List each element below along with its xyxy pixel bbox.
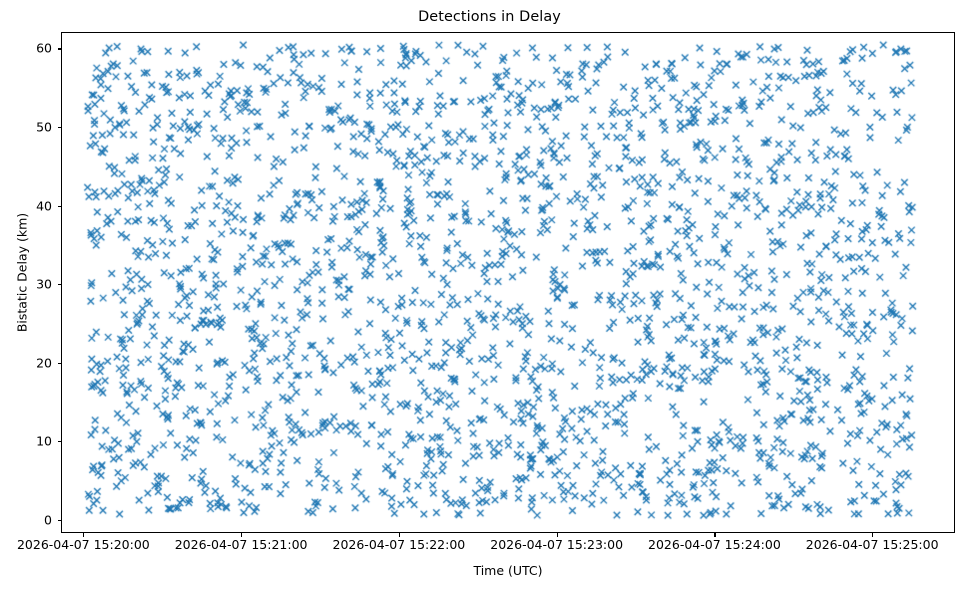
x-tick-label: 2026-04-07 15:22:00 [332,537,465,552]
x-tick-label: 2026-04-07 15:23:00 [490,537,623,552]
y-tick-label: 20 [36,355,52,370]
x-tick-mark [399,533,400,537]
x-tick-mark [714,533,715,537]
x-tick-label: 2026-04-07 15:21:00 [175,537,308,552]
y-tick-mark [58,441,62,442]
y-tick-mark [58,48,62,49]
y-tick-label: 30 [36,277,52,292]
x-tick-mark [557,533,558,537]
x-tick-label: 2026-04-07 15:24:00 [648,537,781,552]
x-tick-mark [872,533,873,537]
y-tick-mark [58,520,62,521]
scatter-plot-canvas [62,33,954,532]
y-tick-label: 0 [44,512,52,527]
y-tick-label: 60 [36,41,52,56]
y-tick-mark [58,206,62,207]
y-tick-mark [58,284,62,285]
matplotlib-figure: Detections in Delay 2026-04-07 15:20:002… [0,0,979,590]
page-title: Detections in Delay [0,9,979,25]
y-axis-label: Bistatic Delay (km) [15,143,30,403]
y-tick-mark [58,363,62,364]
x-tick-mark [241,533,242,537]
y-tick-label: 50 [36,120,52,135]
y-tick-label: 40 [36,198,52,213]
x-tick-label: 2026-04-07 15:20:00 [17,537,150,552]
y-tick-mark [58,127,62,128]
x-tick-mark [83,533,84,537]
x-axis-label: Time (UTC) [61,563,955,578]
y-tick-label: 10 [36,434,52,449]
plot-axes [61,32,955,533]
x-tick-label: 2026-04-07 15:25:00 [806,537,939,552]
